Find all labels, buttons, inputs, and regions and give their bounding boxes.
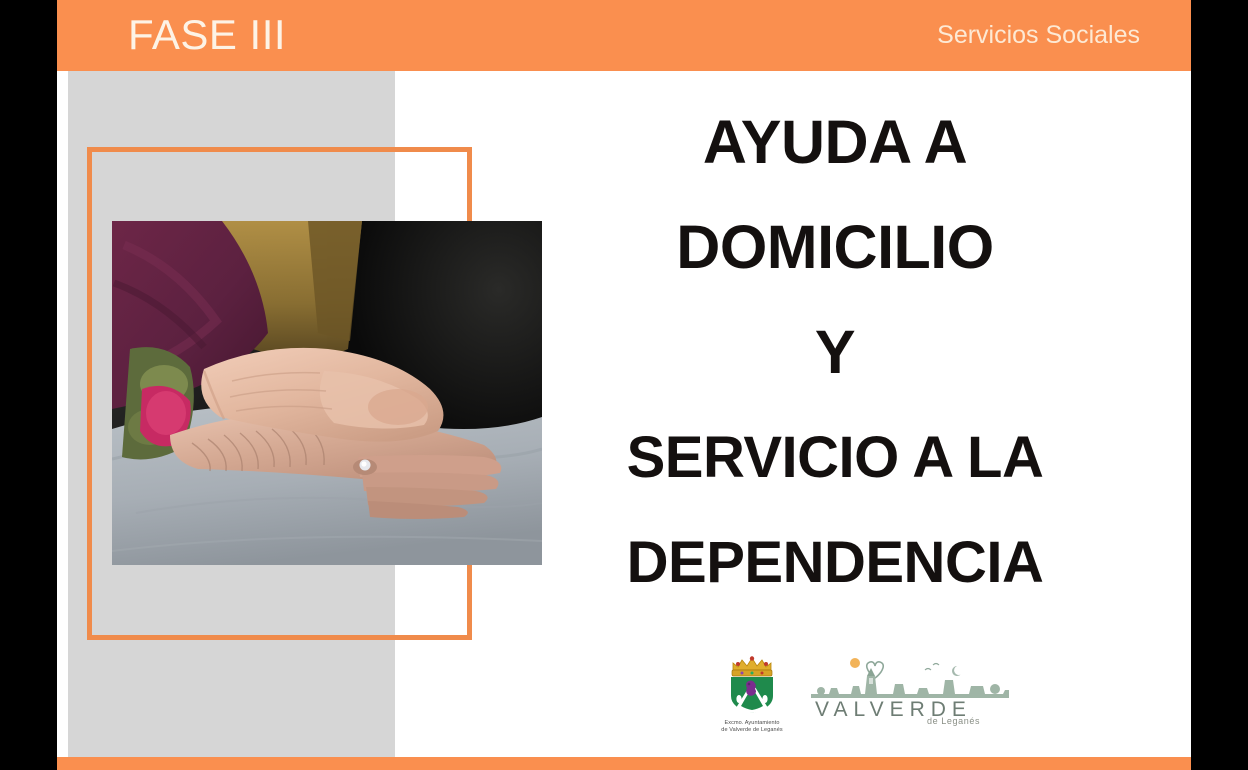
slide-title: AYUDA A DOMICILIO Y SERVICIO A LA DEPEND… bbox=[497, 90, 1173, 615]
elderly-hands-photo bbox=[112, 221, 542, 565]
slide-canvas: FASE III Servicios Sociales bbox=[57, 0, 1191, 770]
header-band: FASE III Servicios Sociales bbox=[57, 0, 1191, 71]
svg-text:de Leganés: de Leganés bbox=[927, 716, 980, 726]
slide-letterbox: FASE III Servicios Sociales bbox=[0, 0, 1248, 770]
title-line-3: Y bbox=[497, 300, 1173, 405]
title-line-5: DEPENDENCIA bbox=[497, 510, 1173, 615]
title-line-2: DOMICILIO bbox=[497, 195, 1173, 300]
department-label: Servicios Sociales bbox=[937, 19, 1140, 51]
footer-logo-row: Excmo. Ayuntamiento de Valverde de Legan… bbox=[697, 652, 1027, 742]
footer-orange-strip bbox=[57, 757, 1191, 770]
municipal-crest: Excmo. Ayuntamiento de Valverde de Legan… bbox=[697, 652, 807, 734]
phase-label: FASE III bbox=[128, 9, 286, 61]
title-line-4: SERVICIO A LA bbox=[497, 405, 1173, 510]
valverde-logo: VALVERDE de Leganés bbox=[807, 654, 1022, 731]
title-line-1: AYUDA A bbox=[497, 90, 1173, 195]
crest-caption: Excmo. Ayuntamiento de Valverde de Legan… bbox=[697, 720, 807, 734]
